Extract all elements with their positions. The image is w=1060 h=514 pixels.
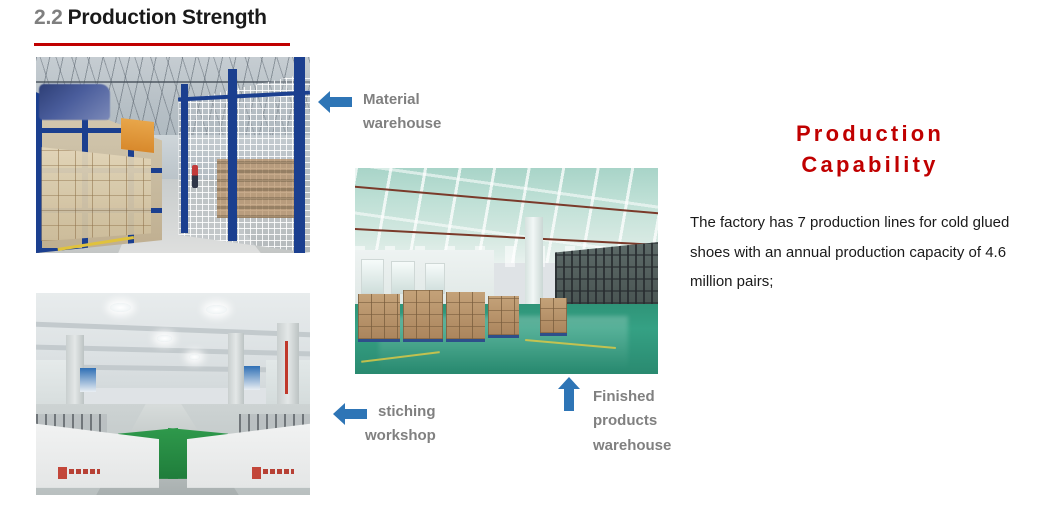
slide-root: 2.2Production Strength [0, 0, 1060, 514]
title-underline-rule [34, 43, 290, 46]
callout-material-warehouse: Material warehouse [363, 88, 441, 137]
material-warehouse-photo [36, 57, 310, 253]
callout-line: workshop [365, 424, 465, 448]
finished-products-warehouse-photo [355, 168, 658, 374]
callout-stiching-workshop: stiching workshop [305, 400, 465, 449]
callout-line: stiching [378, 400, 465, 424]
production-capability-panel: Production Capability The factory has 7 … [690, 118, 1050, 296]
up-arrow-icon [557, 377, 581, 416]
heading-line-2: Capability [690, 149, 1050, 180]
callout-line: warehouse [363, 112, 441, 136]
callout-line: Material [363, 88, 441, 112]
heading-line-1: Production [690, 118, 1050, 149]
section-number: 2.2 [34, 6, 63, 29]
production-capability-body-text: The factory has 7 production lines for c… [690, 208, 1038, 296]
callout-finished-products-warehouse: Finished products warehouse [593, 385, 671, 458]
stitching-workshop-photo [36, 293, 310, 495]
callout-line: warehouse [593, 434, 671, 458]
left-arrow-icon [318, 90, 352, 119]
production-capability-heading: Production Capability [690, 118, 1050, 180]
section-title: Production Strength [68, 6, 267, 29]
page-title: 2.2Production Strength [34, 6, 267, 30]
callout-line: products [593, 409, 671, 433]
callout-line: Finished [593, 385, 671, 409]
